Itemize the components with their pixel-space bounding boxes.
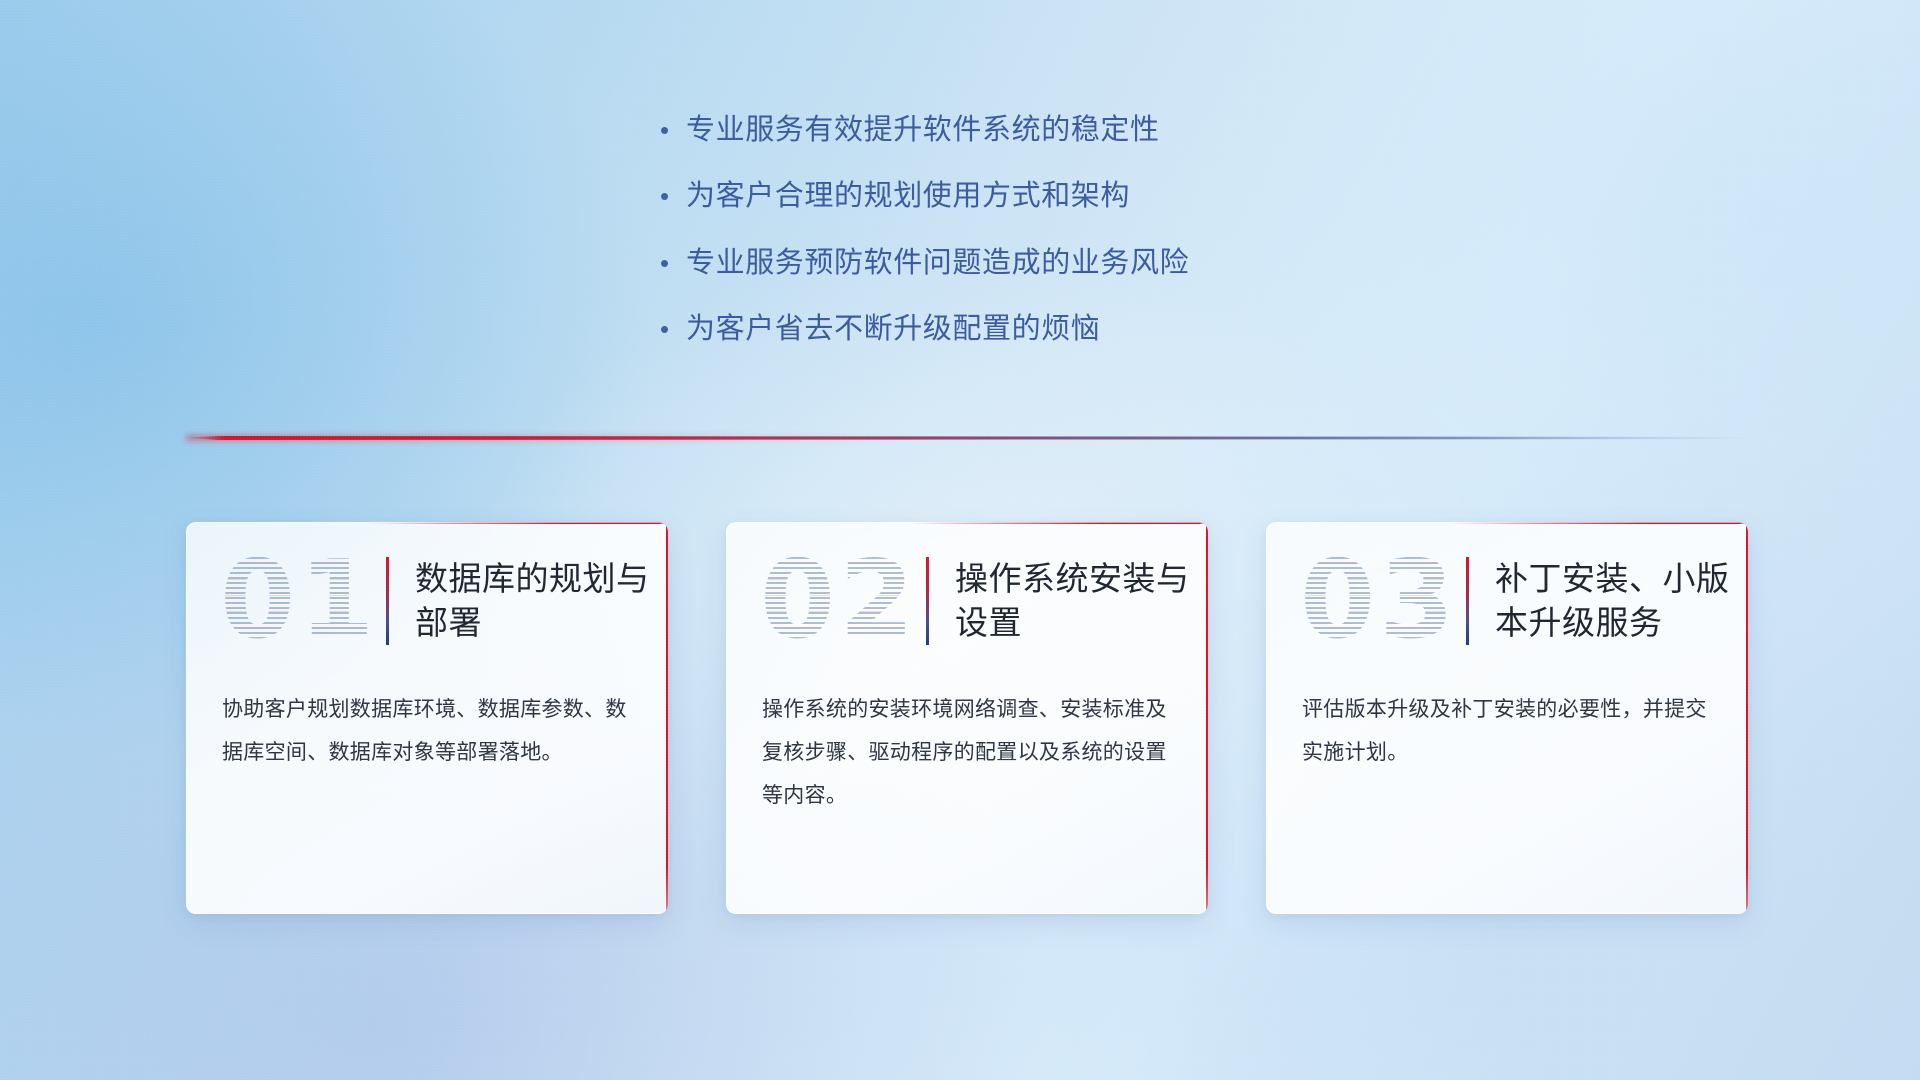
- bullet-text-2: 为客户合理的规划使用方式和架构: [686, 178, 1130, 214]
- list-item: • 专业服务有效提升软件系统的稳定性: [660, 112, 1420, 148]
- bullet-dot-icon: •: [660, 117, 686, 143]
- card-header: 01 01 数据库的规划与部署: [186, 522, 668, 680]
- card-title-bar: [1466, 557, 1469, 645]
- bullet-text-3: 专业服务预防软件问题造成的业务风险: [686, 245, 1189, 281]
- service-card-02[interactable]: 02 02 操作系统安装与设置 操作系统的安装环境网络调查、安装标准及复核步骤、…: [726, 522, 1208, 914]
- bullet-dot-icon: •: [660, 183, 686, 209]
- bullet-dot-icon: •: [660, 250, 686, 276]
- section-divider: [186, 432, 1746, 444]
- card-number-glyph: 02: [760, 547, 926, 655]
- list-item: • 为客户省去不断升级配置的烦恼: [660, 311, 1420, 347]
- bullet-text-1: 专业服务有效提升软件系统的稳定性: [686, 112, 1160, 148]
- list-item: • 专业服务预防软件问题造成的业务风险: [660, 245, 1420, 281]
- bullet-dot-icon: •: [660, 316, 686, 342]
- card-number-glyph: 01: [220, 547, 386, 655]
- bullet-text-4: 为客户省去不断升级配置的烦恼: [686, 311, 1100, 347]
- card-number-watermark: 02 02: [760, 547, 926, 655]
- card-body-text: 操作系统的安装环境网络调查、安装标准及复核步骤、驱动程序的配置以及系统的设置等内…: [726, 688, 1208, 817]
- service-card-01[interactable]: 01 01 数据库的规划与部署 协助客户规划数据库环境、数据库参数、数据库空间、…: [186, 522, 668, 914]
- divider-line: [186, 436, 1746, 440]
- card-header: 02 02 操作系统安装与设置: [726, 522, 1208, 680]
- slide-canvas: • 专业服务有效提升软件系统的稳定性 • 为客户合理的规划使用方式和架构 • 专…: [0, 0, 1920, 1080]
- benefits-bullet-list: • 专业服务有效提升软件系统的稳定性 • 为客户合理的规划使用方式和架构 • 专…: [660, 112, 1420, 377]
- card-number-watermark: 03 03: [1300, 547, 1466, 655]
- card-header: 03 03 补丁安装、小版本升级服务: [1266, 522, 1748, 680]
- card-number-glyph: 03: [1300, 547, 1466, 655]
- card-title: 补丁安装、小版本升级服务: [1495, 557, 1745, 644]
- card-body-text: 协助客户规划数据库环境、数据库参数、数据库空间、数据库对象等部署落地。: [186, 688, 668, 774]
- card-title: 数据库的规划与部署: [415, 557, 665, 644]
- card-number-watermark: 01 01: [220, 547, 386, 655]
- card-body-text: 评估版本升级及补丁安装的必要性，并提交实施计划。: [1266, 688, 1748, 774]
- list-item: • 为客户合理的规划使用方式和架构: [660, 178, 1420, 214]
- card-title-bar: [386, 557, 389, 645]
- card-title-bar: [926, 557, 929, 645]
- service-card-row: 01 01 数据库的规划与部署 协助客户规划数据库环境、数据库参数、数据库空间、…: [186, 522, 1748, 914]
- card-title: 操作系统安装与设置: [955, 557, 1205, 644]
- service-card-03[interactable]: 03 03 补丁安装、小版本升级服务 评估版本升级及补丁安装的必要性，并提交实施…: [1266, 522, 1748, 914]
